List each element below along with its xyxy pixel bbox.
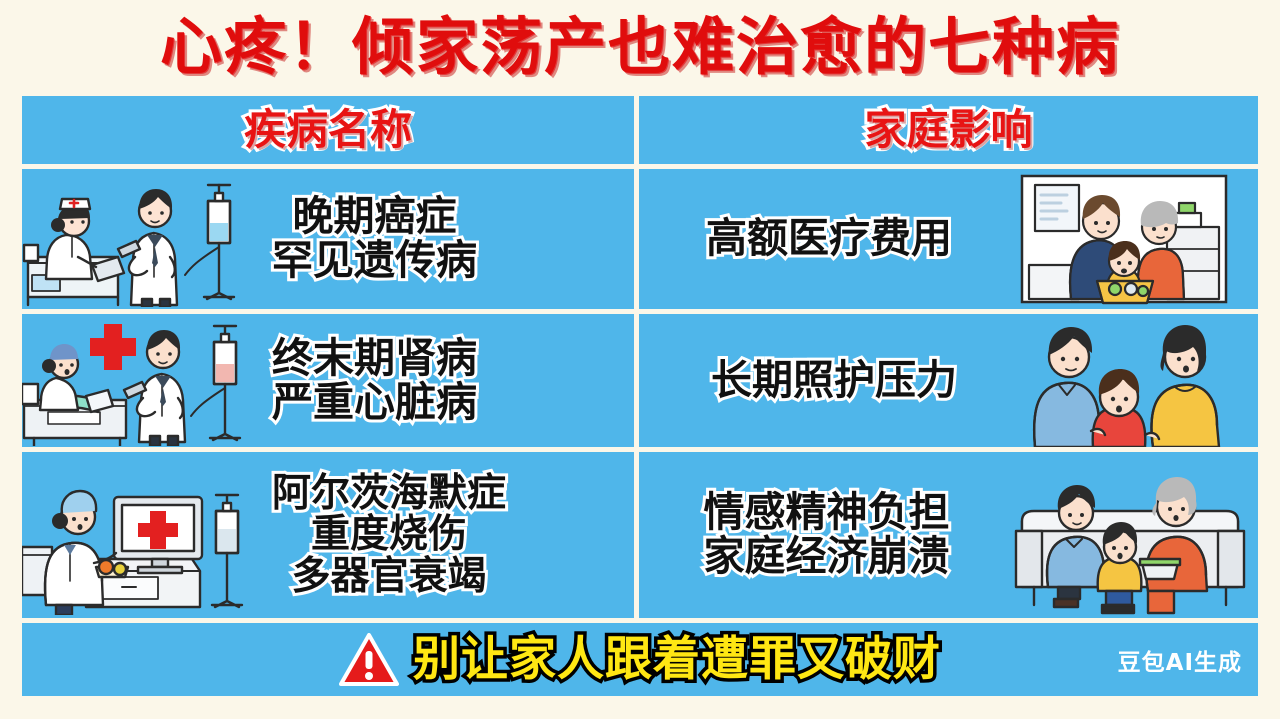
poster-title-bar: 心疼！倾家荡产也难治愈的七种病 <box>0 4 1280 90</box>
disease-cell-1: 晚期癌症 罕见遗传病 <box>22 169 634 309</box>
warning-triangle-icon <box>339 633 399 687</box>
family-sofa-grandmother-illustration <box>1014 455 1246 615</box>
page-title: 心疼！倾家荡产也难治愈的七种病 <box>160 16 1120 78</box>
disease-line: 多器官衰竭 <box>272 556 506 598</box>
disease-line: 晚期癌症 <box>272 195 477 239</box>
patient-bed-redcross-doctor-illustration <box>22 316 272 446</box>
footer-row: 别让家人跟着遭罪又破财 豆包AI生成 <box>22 623 1258 696</box>
family-parents-child-worried-illustration <box>1029 315 1229 447</box>
impact-cell-3: 情感精神负担 家庭经济崩溃 <box>639 452 1258 618</box>
table-header-impact-label: 家庭影响 <box>864 109 1032 151</box>
impact-line: 家庭经济崩溃 <box>639 535 1014 579</box>
watermark-label: 豆包AI生成 <box>1118 643 1242 677</box>
disease-line: 终末期肾病 <box>272 337 477 381</box>
disease-text-1: 晚期癌症 罕见遗传病 <box>272 195 477 283</box>
footer-warning-text: 别让家人跟着遭罪又破财 <box>413 636 941 683</box>
impact-text-1: 高额医疗费用 <box>639 217 1019 261</box>
table-header-disease: 疾病名称 <box>22 96 634 164</box>
nurse-doctor-iv-illustration <box>22 171 272 307</box>
disease-cell-3: 阿尔茨海默症 重度烧伤 多器官衰竭 <box>22 452 634 618</box>
impact-cell-2: 长期照护压力 <box>639 314 1258 447</box>
poster-root: 心疼！倾家荡产也难治愈的七种病 疾病名称 家庭影响 <box>0 0 1280 719</box>
disease-text-2: 终末期肾病 严重心脏病 <box>272 337 477 425</box>
disease-text-3: 阿尔茨海默症 重度烧伤 多器官衰竭 <box>272 473 506 598</box>
impact-line: 长期照护压力 <box>639 359 1029 403</box>
table-row: 阿尔茨海默症 重度烧伤 多器官衰竭 情感精神负担 家庭经济崩溃 <box>22 452 1258 618</box>
impact-line: 高额医疗费用 <box>639 217 1019 261</box>
disease-line: 严重心脏病 <box>272 381 477 425</box>
nurse-monitor-redcross-illustration <box>22 455 272 615</box>
table-header-impact: 家庭影响 <box>639 96 1258 164</box>
disease-line: 罕见遗传病 <box>272 239 477 283</box>
impact-cell-1: 高额医疗费用 <box>639 169 1258 309</box>
table-row: 终末期肾病 严重心脏病 长期照护压力 <box>22 314 1258 447</box>
table-row: 晚期癌症 罕见遗传病 高额医疗费用 <box>22 169 1258 309</box>
disease-cell-2: 终末期肾病 严重心脏病 <box>22 314 634 447</box>
footer-cell: 别让家人跟着遭罪又破财 豆包AI生成 <box>22 623 1258 696</box>
family-father-child-grandmother-illustration <box>1019 173 1229 305</box>
disease-line: 重度烧伤 <box>272 514 506 556</box>
table-header-row: 疾病名称 家庭影响 <box>22 96 1258 164</box>
impact-text-3: 情感精神负担 家庭经济崩溃 <box>639 491 1014 579</box>
impact-line: 情感精神负担 <box>639 491 1014 535</box>
impact-text-2: 长期照护压力 <box>639 359 1029 403</box>
comparison-table: 疾病名称 家庭影响 <box>22 96 1258 696</box>
table-header-disease-label: 疾病名称 <box>244 109 412 151</box>
disease-line: 阿尔茨海默症 <box>272 473 506 515</box>
